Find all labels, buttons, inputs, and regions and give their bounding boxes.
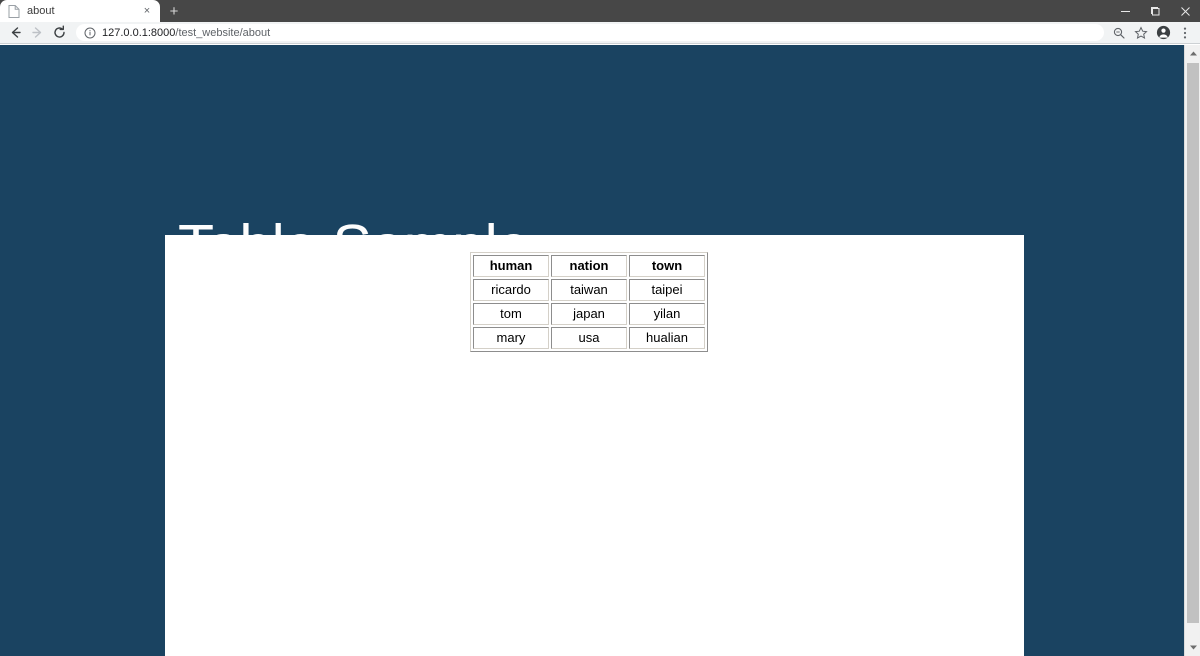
- content-card: human nation town ricardo taiwan taipei …: [165, 235, 1024, 656]
- maximize-icon[interactable]: [1140, 0, 1170, 22]
- table-row: ricardo taiwan taipei: [473, 279, 705, 301]
- table-head: human nation town: [473, 255, 705, 277]
- page-icon: [8, 5, 20, 18]
- column-header-town: town: [629, 255, 705, 277]
- more-menu-icon[interactable]: [1174, 23, 1196, 43]
- close-icon[interactable]: [1170, 0, 1200, 22]
- url-path: /test_website/about: [175, 27, 270, 39]
- table-cell-town: hualian: [629, 327, 705, 349]
- tab-strip: about × +: [0, 0, 1110, 22]
- web-page: Table Sample human nation town ricardo t…: [0, 45, 1184, 656]
- page-scrollbar[interactable]: [1184, 45, 1200, 656]
- table-cell-nation: usa: [551, 327, 627, 349]
- tab-about[interactable]: about ×: [0, 0, 160, 22]
- profile-avatar-icon[interactable]: [1152, 23, 1174, 43]
- minimize-icon[interactable]: [1110, 0, 1140, 22]
- table-row: tom japan yilan: [473, 303, 705, 325]
- chevron-down-icon[interactable]: [1185, 639, 1200, 656]
- new-tab-button[interactable]: +: [160, 0, 188, 22]
- column-header-nation: nation: [551, 255, 627, 277]
- zoom-search-icon[interactable]: [1108, 23, 1130, 43]
- reload-icon[interactable]: [48, 23, 70, 43]
- arrow-right-icon[interactable]: [26, 23, 48, 43]
- bookmark-star-icon[interactable]: [1130, 23, 1152, 43]
- address-bar[interactable]: 127.0.0.1:8000/test_website/about: [76, 24, 1104, 41]
- url-text: 127.0.0.1:8000/test_website/about: [102, 26, 270, 40]
- table-body: ricardo taiwan taipei tom japan yilan ma…: [473, 279, 705, 349]
- table-row: mary usa hualian: [473, 327, 705, 349]
- table-header-row: human nation town: [473, 255, 705, 277]
- table-cell-town: taipei: [629, 279, 705, 301]
- column-header-human: human: [473, 255, 549, 277]
- close-icon[interactable]: ×: [140, 4, 154, 18]
- tab-title: about: [27, 4, 140, 18]
- table-cell-nation: taiwan: [551, 279, 627, 301]
- table-cell-human: ricardo: [473, 279, 549, 301]
- chevron-up-icon[interactable]: [1185, 45, 1200, 62]
- scrollbar-thumb[interactable]: [1187, 63, 1199, 623]
- url-host: 127.0.0.1:8000: [102, 27, 175, 39]
- sample-table: human nation town ricardo taiwan taipei …: [470, 252, 708, 352]
- browser-toolbar: 127.0.0.1:8000/test_website/about: [0, 22, 1200, 44]
- info-circle-icon[interactable]: [84, 27, 96, 39]
- table-cell-human: mary: [473, 327, 549, 349]
- table-cell-human: tom: [473, 303, 549, 325]
- browser-window: about × +: [0, 0, 1200, 656]
- arrow-left-icon[interactable]: [4, 23, 26, 43]
- window-controls: [1110, 0, 1200, 22]
- browser-titlebar: about × +: [0, 0, 1200, 22]
- table-cell-town: yilan: [629, 303, 705, 325]
- table-cell-nation: japan: [551, 303, 627, 325]
- page-viewport: Table Sample human nation town ricardo t…: [0, 45, 1200, 656]
